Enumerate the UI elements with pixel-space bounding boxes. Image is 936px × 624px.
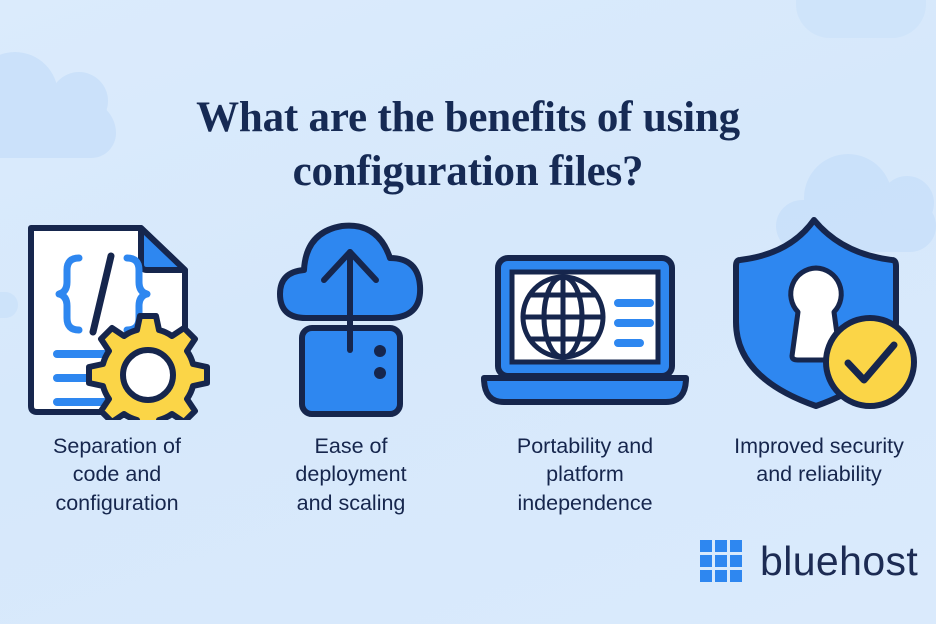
laptop-globe-icon <box>480 210 690 420</box>
logo-square <box>700 570 712 582</box>
caption-line: Ease of <box>239 432 463 460</box>
caption-line: deployment <box>239 460 463 488</box>
icon-container <box>266 204 436 420</box>
benefit-caption: Separation of code and configuration <box>5 432 229 517</box>
caption-line: and scaling <box>239 489 463 517</box>
bluehost-logo: bluehost <box>700 540 918 582</box>
logo-square <box>700 540 712 552</box>
benefit-item-improved-security: Improved security and reliability <box>702 204 936 489</box>
code-document-gear-icon <box>17 210 217 420</box>
background-shape-top-right <box>796 0 926 38</box>
cloud-upload-server-icon <box>266 210 436 420</box>
benefit-item-ease-of-deployment: Ease of deployment and scaling <box>234 204 468 517</box>
page-title-line-2: configuration files? <box>0 145 936 200</box>
caption-line: platform <box>473 460 697 488</box>
shield-keyhole-check-icon <box>722 210 917 420</box>
icon-container <box>722 204 917 420</box>
benefit-item-separation-of-code: Separation of code and configuration <box>0 204 234 517</box>
caption-line: configuration <box>5 489 229 517</box>
icon-container <box>17 204 217 420</box>
icon-container <box>480 204 690 420</box>
infographic-canvas: What are the benefits of using configura… <box>0 0 936 624</box>
logo-square <box>700 555 712 567</box>
logo-square <box>730 570 742 582</box>
benefit-item-portability: Portability and platform independence <box>468 204 702 517</box>
logo-square <box>730 540 742 552</box>
page-title: What are the benefits of using configura… <box>0 91 936 200</box>
logo-square <box>715 540 727 552</box>
logo-square <box>715 555 727 567</box>
caption-line: Separation of <box>5 432 229 460</box>
caption-line: independence <box>473 489 697 517</box>
logo-wordmark: bluehost <box>760 541 918 582</box>
caption-line: code and <box>5 460 229 488</box>
benefit-caption: Ease of deployment and scaling <box>239 432 463 517</box>
logo-square <box>715 570 727 582</box>
logo-square <box>730 555 742 567</box>
grid-3x3-icon <box>700 540 742 582</box>
caption-line: Portability and <box>473 432 697 460</box>
caption-line: and reliability <box>707 460 931 488</box>
benefit-caption: Improved security and reliability <box>707 432 931 489</box>
benefits-row: Separation of code and configuration <box>0 204 936 517</box>
page-title-line-1: What are the benefits of using <box>0 91 936 146</box>
caption-line: Improved security <box>707 432 931 460</box>
benefit-caption: Portability and platform independence <box>473 432 697 517</box>
